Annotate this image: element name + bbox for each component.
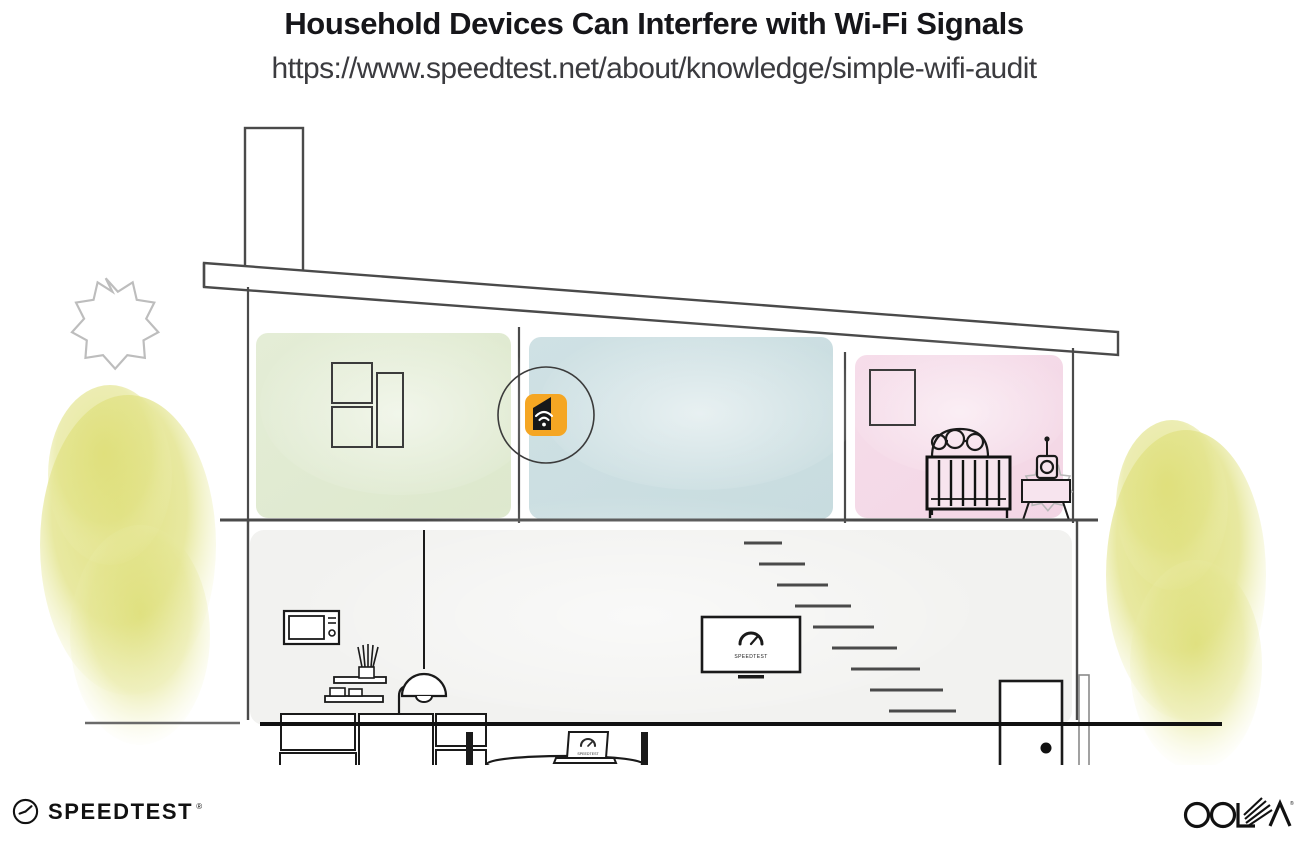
foliage-left — [40, 385, 216, 745]
speedtest-trademark: ® — [196, 802, 202, 811]
ground-line — [85, 723, 1222, 724]
microwave-interference-burst — [72, 278, 158, 368]
laptop[interactable]: SPEEDTEST — [554, 732, 616, 763]
speedtest-wordmark: SPEEDTEST — [48, 799, 193, 825]
speedtest-gauge-icon — [12, 798, 39, 825]
ookla-trademark: ® — [1290, 800, 1294, 807]
ookla-logo: ® — [1182, 796, 1294, 830]
source-url: https://www.speedtest.net/about/knowledg… — [0, 52, 1308, 86]
window-pillar — [1079, 675, 1089, 765]
microwave[interactable] — [284, 611, 339, 644]
infographic-canvas: Household Devices Can Interfere with Wi-… — [0, 0, 1308, 861]
wifi-router[interactable] — [525, 394, 567, 436]
ookla-wordmark: ® — [1182, 796, 1294, 830]
foliage-right — [1106, 420, 1266, 765]
crib[interactable] — [927, 457, 1010, 518]
footer-bar: SPEEDTEST ® ® — [0, 780, 1308, 860]
room-nursery-pink — [850, 335, 1072, 520]
tv-screen-label: SPEEDTEST — [734, 654, 767, 660]
door-knob-icon — [1041, 743, 1052, 754]
page-title: Household Devices Can Interfere with Wi-… — [0, 6, 1308, 42]
house-cutaway-illustration: SPEEDTEST — [0, 105, 1308, 765]
television[interactable]: SPEEDTEST — [702, 617, 800, 679]
laptop-screen-label: SPEEDTEST — [577, 752, 599, 756]
speedtest-logo: SPEEDTEST ® — [12, 798, 202, 825]
chimney — [245, 128, 303, 280]
